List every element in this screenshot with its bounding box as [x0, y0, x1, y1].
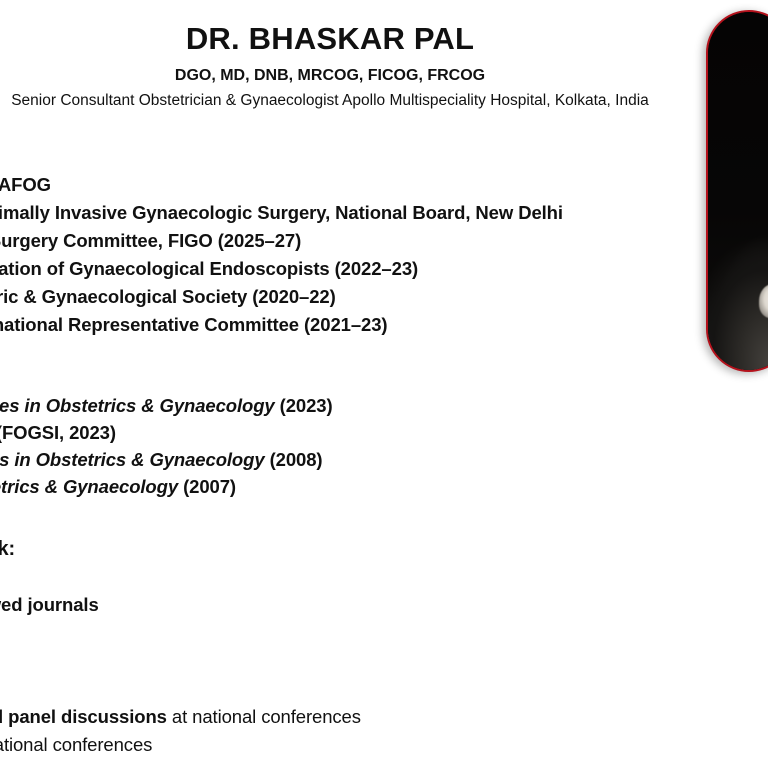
- list-item: Association of Gynaecological Endoscopis…: [0, 255, 768, 283]
- publication-year: (2023): [275, 395, 333, 416]
- publication-year: (2007): [178, 476, 236, 497]
- publication-year: (FOGSI, 2023): [0, 422, 116, 443]
- affiliation-line: Senior Consultant Obstetrician & Gynaeco…: [0, 92, 660, 111]
- list-item: t international conferences: [0, 731, 768, 759]
- credentials-line: DGO, MD, DNB, MRCOG, FICOG, FRCOG: [0, 66, 660, 85]
- journals-line: -reviewed journals: [0, 591, 768, 619]
- page-title: DR. BHASKAR PAL: [0, 22, 660, 57]
- slide-header: DR. BHASKAR PAL DGO, MD, DNB, MRCOG, FIC…: [0, 22, 660, 111]
- list-item: Practices in Obstetrics & Gynaecology (2…: [0, 392, 768, 419]
- academic-work-block: ic Work: -reviewed journals : res and pa…: [0, 535, 768, 759]
- spacer: [0, 563, 768, 591]
- list-item: t Obstetrics & Gynaecology (2007): [0, 473, 768, 500]
- list-item: ittee, SAFOG: [0, 171, 768, 199]
- publication-title: Practices in Obstetrics & Gynaecology: [0, 395, 275, 416]
- publications-block: Practices in Obstetrics & Gynaecology (2…: [0, 392, 768, 500]
- slide-canvas: DR. BHASKAR PAL DGO, MD, DNB, MRCOG, FIC…: [0, 0, 768, 768]
- section-heading: ic Work:: [0, 535, 768, 563]
- positions-block: ) ittee, SAFOG rd, Minimally Invasive Gy…: [0, 143, 768, 339]
- portrait-photo: [708, 12, 768, 370]
- talks-regular: at national conferences: [167, 706, 361, 727]
- publication-title: t Obstetrics & Gynaecology: [0, 476, 178, 497]
- list-item: Obstetric & Gynaecological Society (2020…: [0, 283, 768, 311]
- list-item: asive Surgery Committee, FIGO (2025–27): [0, 227, 768, 255]
- publication-year: (2008): [265, 449, 323, 470]
- international-line: t international conferences: [0, 734, 152, 755]
- spacer: [0, 675, 768, 703]
- spacer: [0, 619, 768, 647]
- list-item: res and panel discussions at national co…: [0, 703, 768, 731]
- publication-title: Aspects in Obstetrics & Gynaecology: [0, 449, 265, 470]
- list-item: rd, Minimally Invasive Gynaecologic Surg…: [0, 199, 768, 227]
- portrait-frame: [706, 10, 768, 372]
- list-item: Aspects in Obstetrics & Gynaecology (200…: [0, 446, 768, 473]
- list-item: netics (FOGSI, 2023): [0, 419, 768, 446]
- list-item: ): [0, 143, 768, 171]
- list-item: a International Representative Committee…: [0, 311, 768, 339]
- section-heading-colon: :: [0, 647, 768, 675]
- talks-bold: res and panel discussions: [0, 706, 167, 727]
